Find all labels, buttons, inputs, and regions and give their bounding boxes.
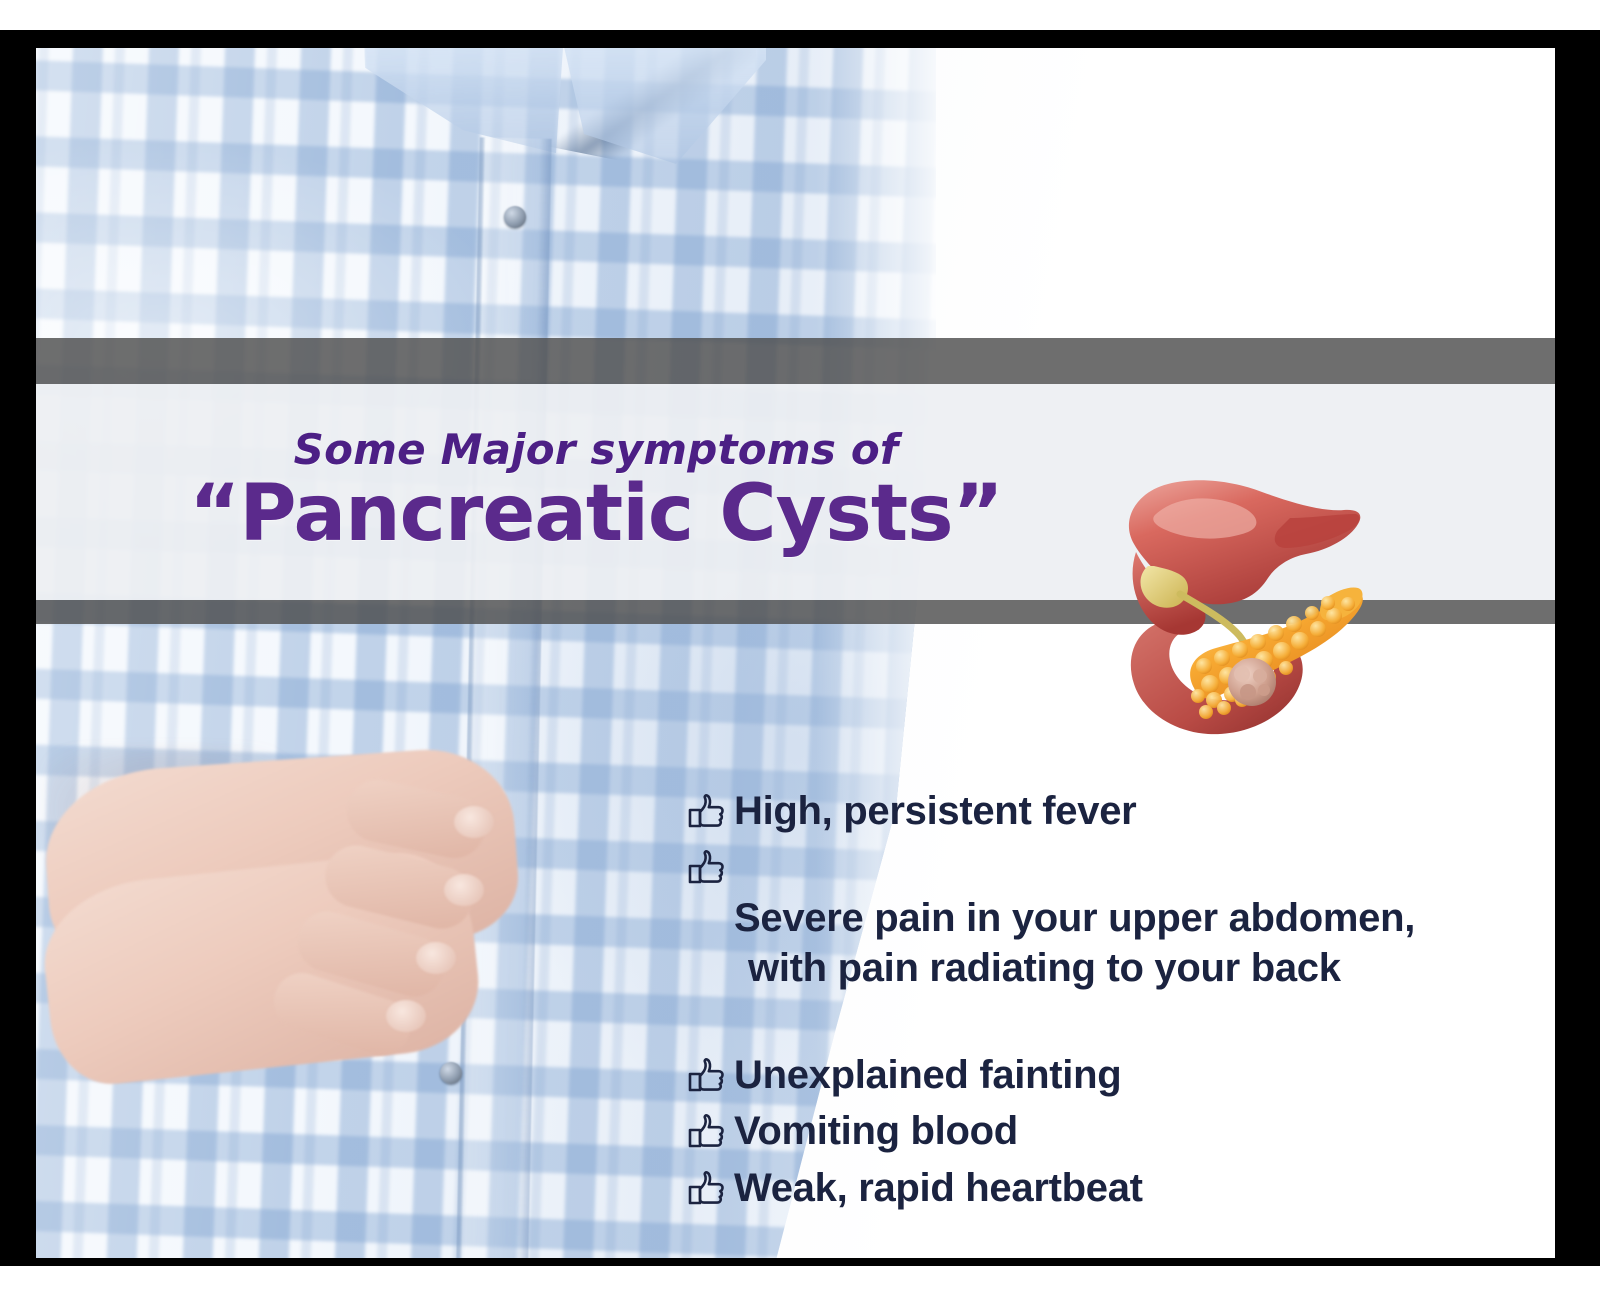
list-item-label: Unexplained fainting [734,1050,1121,1100]
letterbox-left [0,30,36,1262]
letterbox-bottom [0,1258,1600,1266]
fingernail-1 [454,806,494,838]
clasped-hands [46,748,566,1088]
symptoms-list: High, persistent fever Severe pain in yo… [686,786,1546,1219]
fingernail-2 [444,874,484,906]
thumbs-up-outline-icon [686,848,730,890]
organ-illustration-svg [1076,448,1366,738]
headline-subtitle: Some Major symptoms of [294,429,899,471]
list-item: Unexplained fainting [686,1050,1546,1100]
pancreatic-cyst [1228,658,1276,706]
list-item: Vomiting blood [686,1106,1546,1156]
letterbox-top [0,30,1600,48]
list-item: Severe pain in your upper abdomen, with … [686,842,1546,1044]
list-item: Weak, rapid heartbeat [686,1163,1546,1213]
list-item-line-1: Severe pain in your upper abdomen, [734,896,1415,940]
pancreas-liver-illustration [1076,448,1366,738]
list-item-label: Vomiting blood [734,1106,1018,1156]
list-item-line-2: with pain radiating to your back [734,943,1415,993]
list-item: High, persistent fever [686,786,1546,836]
thumbs-up-outline-icon [686,1056,730,1098]
list-item-label: High, persistent fever [734,786,1136,836]
video-frame-image: Some Major symptoms of “Pancreatic Cysts… [36,48,1555,1260]
headline-title: “Pancreatic Cysts” [189,475,1003,555]
headline-block: Some Major symptoms of “Pancreatic Cysts… [36,384,1156,600]
screenshot-frame: Some Major symptoms of “Pancreatic Cysts… [0,0,1600,1306]
shirt-button-top [504,206,526,228]
letterbox-right [1555,30,1600,1262]
list-item-label: Weak, rapid heartbeat [734,1163,1143,1213]
fingernail-4 [386,1000,426,1032]
list-item-label: Severe pain in your upper abdomen, with … [734,842,1415,1044]
thumbs-up-outline-icon [686,1112,730,1154]
thumbs-up-outline-icon [686,1169,730,1211]
fingernail-3 [416,942,456,974]
thumbs-up-outline-icon [686,792,730,834]
